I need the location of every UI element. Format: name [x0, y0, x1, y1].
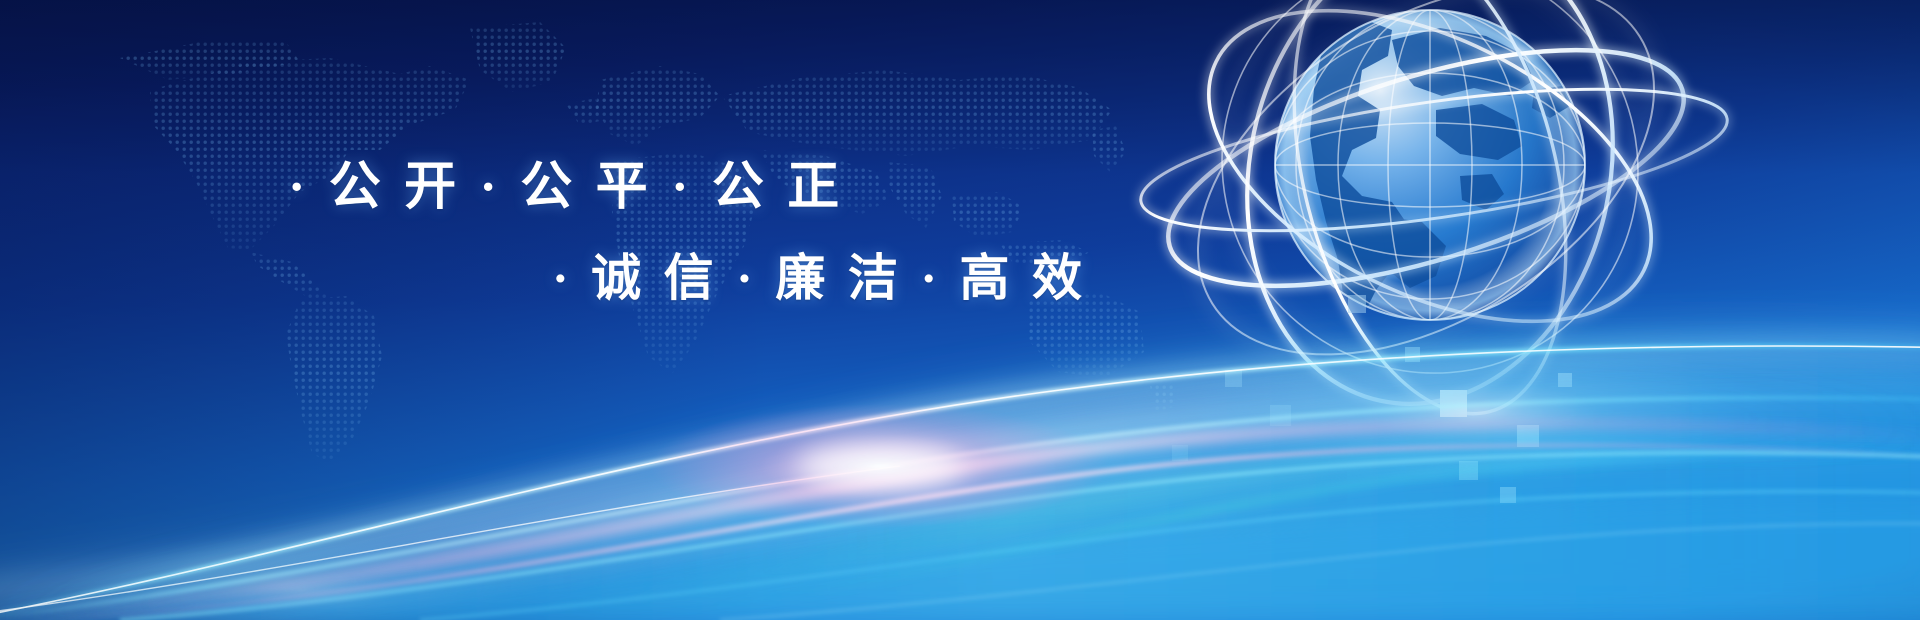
light-waves-graphic [0, 290, 1920, 620]
slogan-line-1: · 公 开 · 公 平 · 公 正 [288, 144, 844, 219]
slogan-line-2: · 诚 信 · 廉 洁 · 高 效 [552, 238, 1087, 310]
banner-root: · 公 开 · 公 平 · 公 正 · 诚 信 · 廉 洁 · 高 效 [0, 0, 1920, 620]
